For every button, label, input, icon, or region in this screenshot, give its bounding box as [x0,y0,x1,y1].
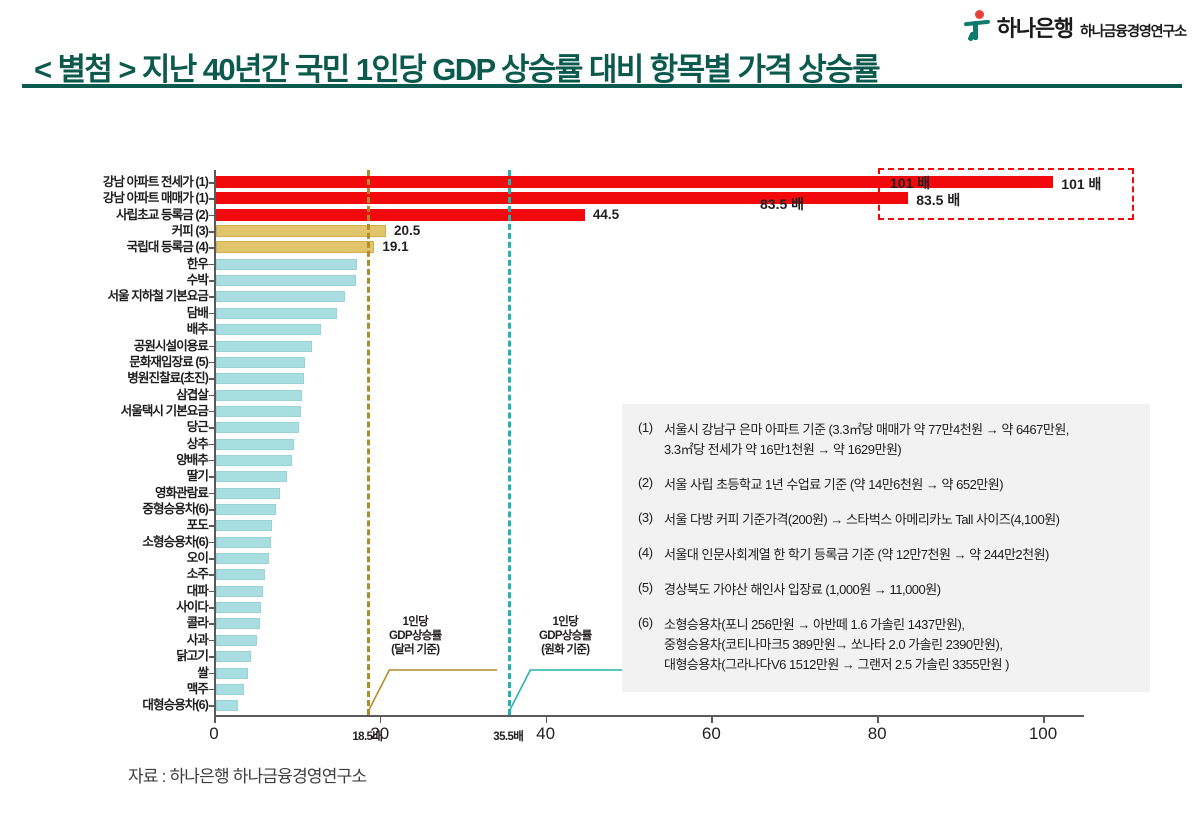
bar [216,504,276,515]
category-label: 쌀 [197,667,208,680]
value-tick-label: 100 [1029,724,1057,744]
bar-value-label: 19.1 [382,239,408,254]
bar [216,684,244,695]
footnote-number: (4) [638,545,664,565]
value-tick-label: 80 [868,724,887,744]
footnote-text: 서울 다방 커피 기준가격(200원) → 스타벅스 아메리카노 Tall 사이… [664,510,1059,530]
category-label: 담배 [187,307,208,320]
category-label: 사과 [187,634,208,647]
bar-row [214,355,1084,371]
footnote-line: 3.3㎡당 전세가 약 16만1천원 → 약 1629만원) [664,440,1069,460]
bar-row [214,339,1084,355]
bar [216,586,263,597]
footnote-number: (2) [638,475,664,495]
footnote-text: 소형승용차(포니 256만원 → 아반떼 1.6 가솔린 1437만원),중형승… [664,615,1009,675]
footnote-text: 경상북도 가야산 해인사 입장료 (1,000원 → 11,000원) [664,580,941,600]
bar-value-label: 20.5 [394,223,420,238]
category-label: 오이 [187,552,208,565]
highlight-box: 101 배83.5 배 [878,168,1134,220]
footnote-item: (4)서울대 인문사회계열 한 학기 등록금 기준 (약 12만7천원 → 약 … [638,545,1132,565]
bar-row [214,289,1084,305]
category-label: 상추 [187,438,208,451]
category-label: 대파 [187,585,208,598]
brand-logo: 하나은행 하나금융경영연구소 [964,10,1186,40]
bar [216,651,251,662]
bar [216,455,292,466]
category-label: 병원진찰료(초진) [127,372,208,385]
page-title: < 별첨 > 지난 40년간 국민 1인당 GDP 상승률 대비 항목별 가격 … [34,44,879,89]
category-label: 수박 [187,274,208,287]
callout-line: 1인당 [539,615,591,629]
bar [216,192,908,204]
footnote-item: (1)서울시 강남구 은마 아파트 기준 (3.3㎡당 매매가 약 77만4천원… [638,420,1132,460]
bar [216,553,269,564]
highlight-value-label: 83.5 배 [760,194,804,214]
category-label: 한우 [187,258,208,271]
footnote-line: 대형승용차(그라나다V6 1512만원 → 그랜저 2.5 가솔린 3355만원… [664,655,1009,675]
logo-bank-name: 하나은행 [997,18,1073,40]
bar-row [214,698,1084,714]
value-tick-label: 40 [536,724,555,744]
reference-line [508,170,511,715]
gdp-growth-callout: 1인당GDP상승률(달러 기준) [389,615,441,657]
value-tick [546,717,548,723]
bar [216,700,238,711]
category-label: 삼겹살 [176,389,208,402]
bar [216,225,386,237]
value-tick-label: 0 [209,724,218,744]
category-label: 딸기 [187,470,208,483]
footnote-line: 서울 다방 커피 기준가격(200원) → 스타벅스 아메리카노 Tall 사이… [664,510,1059,530]
footnote-number: (3) [638,510,664,530]
value-tick-label: 20 [370,724,389,744]
category-label: 맥주 [187,683,208,696]
footnote-number: (5) [638,580,664,600]
category-label: 당근 [187,421,208,434]
footnote-item: (5)경상북도 가야산 해인사 입장료 (1,000원 → 11,000원) [638,580,1132,600]
footnote-number: (1) [638,420,664,460]
bar [216,209,585,221]
bar-row: 20.5 [214,224,1084,240]
category-label: 커피 (3) [172,225,208,238]
bar-row [214,322,1084,338]
bar [216,569,265,580]
bar [216,241,374,253]
title-band: < 별첨 > 지난 40년간 국민 1인당 GDP 상승률 대비 항목별 가격 … [0,44,1200,92]
callout-line: GDP상승률 [539,629,591,643]
category-axis-line [214,715,1084,717]
category-label: 포도 [187,519,208,532]
footnote-number: (6) [638,615,664,675]
footnote-item: (3)서울 다방 커피 기준가격(200원) → 스타벅스 아메리카노 Tall… [638,510,1132,530]
bar [216,291,345,302]
footnotes-panel: (1)서울시 강남구 은마 아파트 기준 (3.3㎡당 매매가 약 77만4천원… [622,404,1150,692]
footnote-line: 서울 사립 초등학교 1년 수업료 기준 (약 14만6천원 → 약 652만원… [664,475,1003,495]
bar-value-label: 44.5 [593,207,619,222]
bar [216,390,302,401]
category-axis-labels: 강남 아파트 전세가 (1)강남 아파트 매매가 (1)사립초교 등록금 (2)… [0,170,208,715]
bar-row [214,371,1084,387]
callout-line: (원화 기준) [539,643,591,657]
category-label: 양배추 [176,454,208,467]
footnote-line: 서울대 인문사회계열 한 학기 등록금 기준 (약 12만7천원 → 약 244… [664,545,1049,565]
bar [216,308,337,319]
category-label: 강남 아파트 전세가 (1) [103,176,208,189]
highlight-value-label: 101 배 [890,173,930,193]
category-label: 사립초교 등록금 (2) [116,209,208,222]
value-tick [711,717,713,723]
slide-canvas: 하나은행 하나금융경영연구소 < 별첨 > 지난 40년간 국민 1인당 GDP… [0,0,1200,814]
reference-line [367,170,370,715]
category-label: 닭고기 [176,650,208,663]
footnote-text: 서울대 인문사회계열 한 학기 등록금 기준 (약 12만7천원 → 약 244… [664,545,1049,565]
category-label: 국립대 등록금 (4) [127,241,208,254]
value-tick [380,717,382,723]
category-label: 사이다 [176,601,208,614]
category-label: 중형승용차(6) [142,503,208,516]
callout-line: GDP상승률 [389,629,441,643]
bar [216,520,272,531]
category-label: 서울 지하철 기본요금 [107,290,208,303]
bar [216,357,305,368]
footnote-item: (6)소형승용차(포니 256만원 → 아반떼 1.6 가솔린 1437만원),… [638,615,1132,675]
bar [216,341,312,352]
bar [216,406,301,417]
footnote-line: 서울시 강남구 은마 아파트 기준 (3.3㎡당 매매가 약 77만4천원 → … [664,420,1069,440]
category-label: 콜라 [187,617,208,630]
bar [216,668,248,679]
value-tick [877,717,879,723]
value-tick [214,717,216,723]
category-label: 영화관람료 [155,487,208,500]
category-label: 공원시설이용료 [134,340,208,353]
bar [216,373,304,384]
title-underline [22,84,1182,88]
category-label: 소주 [187,568,208,581]
reference-line-tick-label: 35.5배 [493,728,523,744]
bar [216,537,271,548]
category-label: 소형승용차(6) [142,536,208,549]
hana-figure-icon [964,10,990,40]
footnote-text: 서울 사립 초등학교 1년 수업료 기준 (약 14만6천원 → 약 652만원… [664,475,1003,495]
bar [216,324,321,335]
logo-institute-name: 하나금융경영연구소 [1080,24,1186,40]
bar [216,275,356,286]
bar [216,488,280,499]
category-label: 강남 아파트 매매가 (1) [103,192,208,205]
value-tick [1043,717,1045,723]
bar [216,618,260,629]
category-label: 배추 [187,323,208,336]
gdp-growth-callout: 1인당GDP상승률(원화 기준) [539,615,591,657]
bar [216,471,287,482]
bar-row [214,273,1084,289]
bar-row [214,306,1084,322]
bar [216,422,299,433]
bar [216,635,257,646]
footnote-line: 경상북도 가야산 해인사 입장료 (1,000원 → 11,000원) [664,580,941,600]
callout-line: (달러 기준) [389,643,441,657]
value-tick-label: 60 [702,724,721,744]
bar-row [214,388,1084,404]
source-caption: 자료 : 하나은행 하나금융경영연구소 [128,762,366,787]
footnote-text: 서울시 강남구 은마 아파트 기준 (3.3㎡당 매매가 약 77만4천원 → … [664,420,1069,460]
bar-row: 19.1 [214,240,1084,256]
bar [216,439,294,450]
category-label: 문화재입장료 (5) [129,356,208,369]
bar [216,602,261,613]
bar-row [214,257,1084,273]
bar [216,259,357,270]
footnote-line: 소형승용차(포니 256만원 → 아반떼 1.6 가솔린 1437만원), [664,615,1009,635]
category-label: 대형승용차(6) [142,699,208,712]
category-label: 서울택시 기본요금 [121,405,208,418]
callout-line: 1인당 [389,615,441,629]
footnote-line: 중형승용차(코티나마크5 389만원→ 쏘나타 2.0 가솔린 2390만원), [664,635,1009,655]
footnote-item: (2)서울 사립 초등학교 1년 수업료 기준 (약 14만6천원 → 약 65… [638,475,1132,495]
